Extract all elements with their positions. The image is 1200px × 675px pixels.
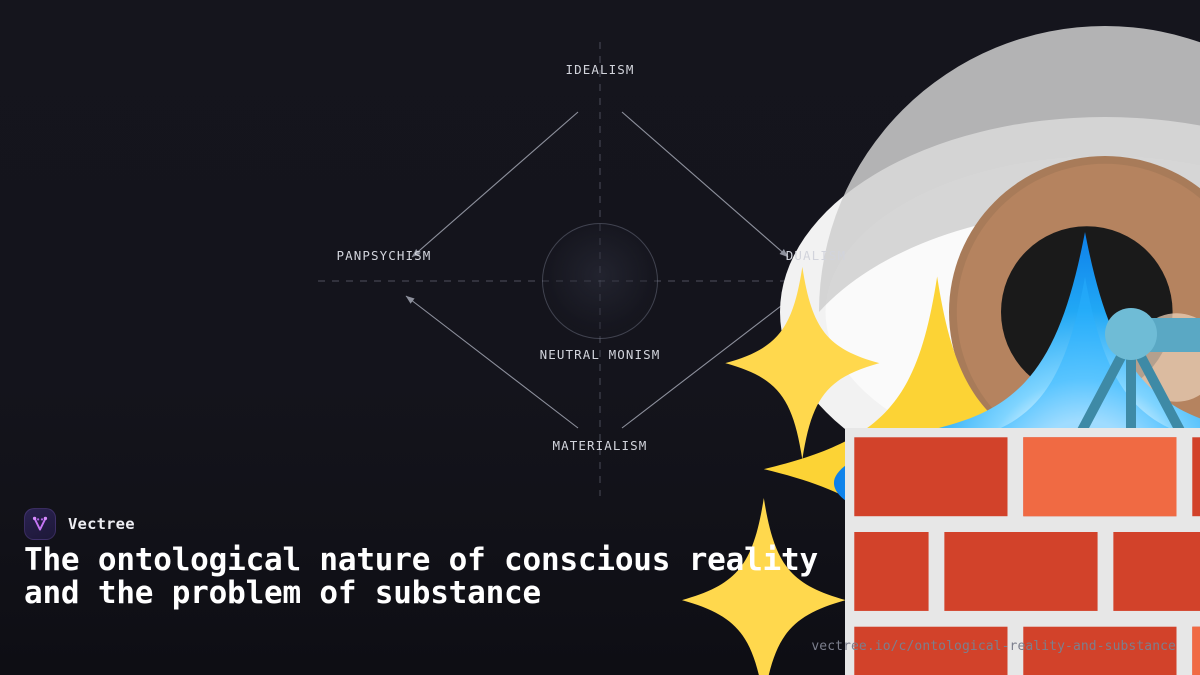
page-title: The ontological nature of conscious real… (24, 544, 824, 609)
vectree-v-logo-icon (24, 508, 56, 540)
node-materialism[interactable]: MATERIALISM (505, 428, 695, 453)
share-url: vectree.io/c/ontological-reality-and-sub… (811, 639, 1176, 654)
concept-map: IDEALISM PANPSYCHISM (0, 0, 1200, 520)
brand-name: Vectree (68, 515, 135, 533)
node-dualism[interactable]: DUALISM (721, 238, 911, 263)
node-neutral-monism[interactable]: NEUTRAL MONISM (485, 223, 715, 362)
node-panpsychism[interactable]: PANPSYCHISM (289, 238, 479, 263)
share-card: IDEALISM PANPSYCHISM (0, 0, 1200, 675)
node-idealism[interactable]: IDEALISM (505, 52, 695, 77)
center-node-ring (542, 223, 658, 339)
card-footer: Vectree The ontological nature of consci… (0, 500, 1200, 675)
brand[interactable]: Vectree (24, 508, 135, 540)
